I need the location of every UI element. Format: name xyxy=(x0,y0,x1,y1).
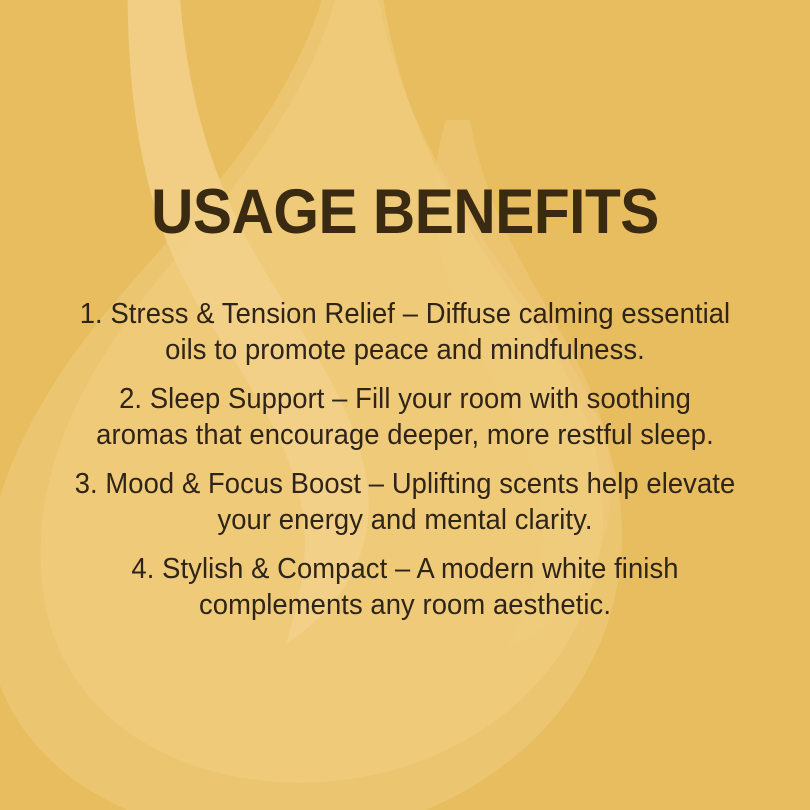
poster-content: USAGE BENEFITS 1. Stress & Tension Relie… xyxy=(0,0,810,810)
benefits-list: 1. Stress & Tension Relief – Diffuse cal… xyxy=(50,296,760,623)
benefit-text: 2. Sleep Support – Fill your room with s… xyxy=(74,381,736,453)
page-title: USAGE BENEFITS xyxy=(28,181,781,244)
benefit-text: 1. Stress & Tension Relief – Diffuse cal… xyxy=(74,296,736,368)
usage-benefits-poster: USAGE BENEFITS 1. Stress & Tension Relie… xyxy=(0,0,810,810)
list-item: 4. Stylish & Compact – A modern white fi… xyxy=(64,551,746,623)
list-item: 3. Mood & Focus Boost – Uplifting scents… xyxy=(64,466,746,538)
list-item: 2. Sleep Support – Fill your room with s… xyxy=(64,381,746,453)
benefit-text: 3. Mood & Focus Boost – Uplifting scents… xyxy=(74,466,736,538)
benefit-text: 4. Stylish & Compact – A modern white fi… xyxy=(74,551,736,623)
list-item: 1. Stress & Tension Relief – Diffuse cal… xyxy=(64,296,746,368)
